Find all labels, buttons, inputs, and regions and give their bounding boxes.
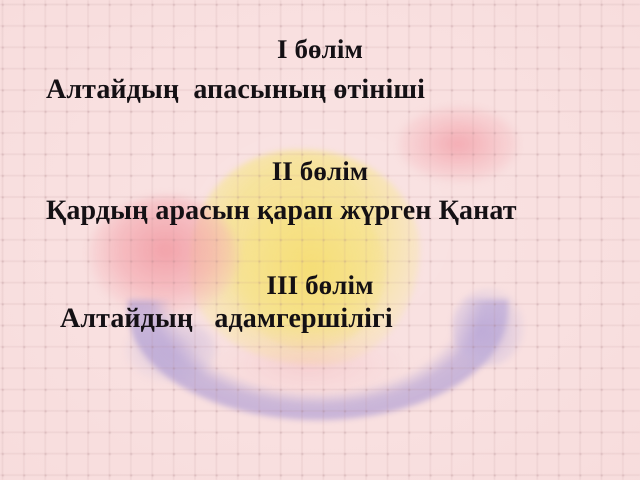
- section-2-title: Қардың арасын қарап жүрген Қанат: [46, 195, 517, 227]
- slide-text-content: I бөлім Алтайдың апасының өтініші II бөл…: [0, 0, 640, 480]
- section-1-heading: I бөлім: [0, 34, 640, 65]
- presentation-slide: I бөлім Алтайдың апасының өтініші II бөл…: [0, 0, 640, 480]
- section-1-title: Алтайдың апасының өтініші: [46, 74, 425, 106]
- section-3-heading: III бөлім: [0, 270, 640, 301]
- section-3-title: Алтайдың адамгершілігі: [60, 303, 393, 335]
- section-2-heading: II бөлім: [0, 156, 640, 187]
